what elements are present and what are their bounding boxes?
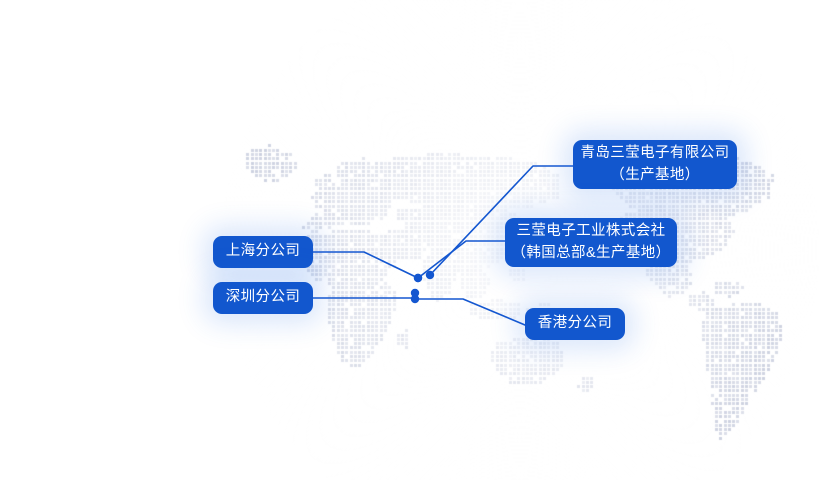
label-korea-line1: 三莹电子工业株式会社 [517, 221, 666, 242]
world-map-infographic: 青岛三莹电子有限公司 （生产基地） 三莹电子工业株式会社 （韩国总部&生产基地）… [0, 0, 824, 480]
world-map-background [0, 0, 824, 480]
label-qingdao-line1: 青岛三莹电子有限公司 [581, 143, 730, 164]
label-qingdao-line2: （生产基地） [610, 165, 699, 186]
label-korea[interactable]: 三莹电子工业株式会社 （韩国总部&生产基地） [505, 218, 677, 267]
label-korea-line2: （韩国总部&生产基地） [511, 243, 670, 264]
label-hongkong[interactable]: 香港分公司 [525, 308, 625, 340]
label-shanghai-line1: 上海分公司 [226, 241, 301, 262]
world-map-dots-canvas [0, 0, 824, 480]
label-shanghai[interactable]: 上海分公司 [213, 236, 313, 268]
label-shenzhen-line1: 深圳分公司 [226, 287, 301, 308]
label-qingdao[interactable]: 青岛三莹电子有限公司 （生产基地） [573, 140, 737, 189]
label-shenzhen[interactable]: 深圳分公司 [213, 282, 313, 314]
label-hongkong-line1: 香港分公司 [538, 313, 613, 334]
